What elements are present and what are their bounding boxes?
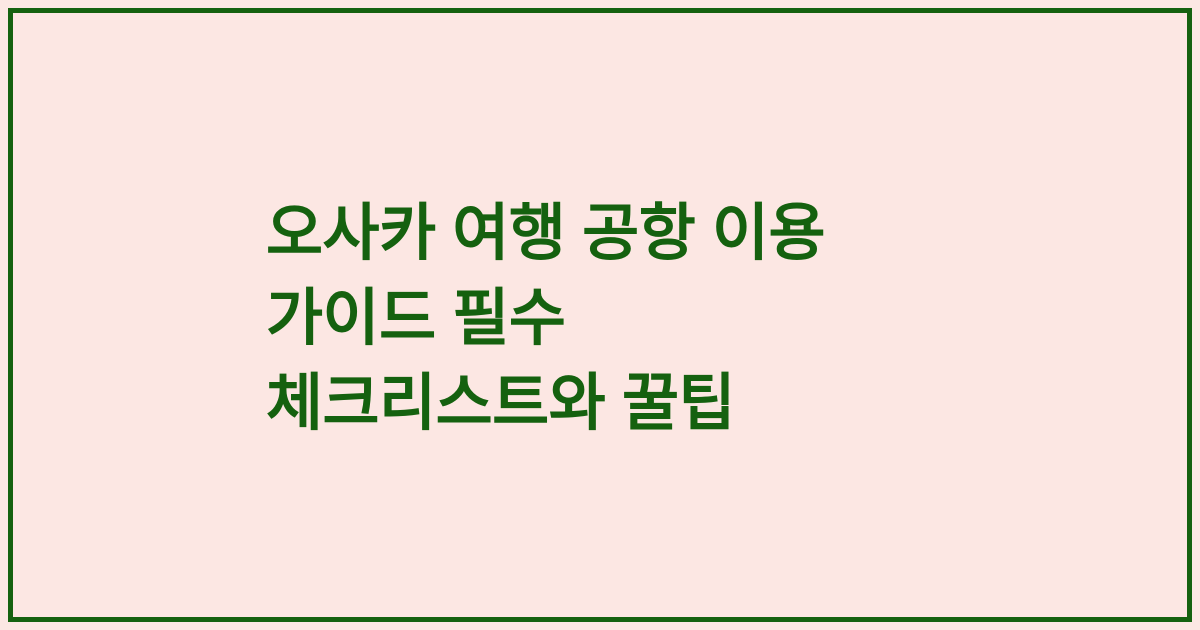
title-line-2: 가이드 필수: [266, 276, 1126, 361]
banner-card: 오사카 여행 공항 이용 가이드 필수 체크리스트와 꿀팁: [0, 0, 1200, 630]
title-line-1: 오사카 여행 공항 이용: [266, 191, 1126, 276]
banner-border-frame: 오사카 여행 공항 이용 가이드 필수 체크리스트와 꿀팁: [8, 8, 1192, 622]
page-title: 오사카 여행 공항 이용 가이드 필수 체크리스트와 꿀팁: [266, 191, 1126, 446]
title-line-3: 체크리스트와 꿀팁: [266, 361, 1126, 446]
